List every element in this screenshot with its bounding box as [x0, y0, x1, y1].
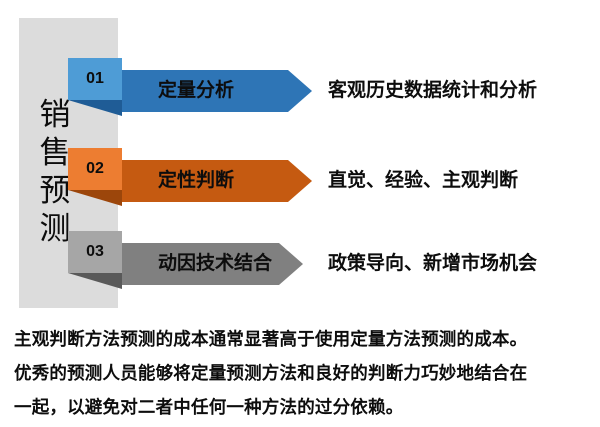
- process-description-1: 客观历史数据统计和分析: [328, 70, 537, 112]
- number-badge-2[interactable]: 02: [68, 148, 122, 190]
- summary-paragraph: 主观判断方法预测的成本通常显著高于使用定量方法预测的成本。 优秀的预测人员能够将…: [14, 322, 589, 424]
- number-badge-3[interactable]: 03: [68, 231, 122, 273]
- process-chevron-2[interactable]: 定性判断: [112, 160, 312, 202]
- process-title-2: 定性判断: [158, 160, 234, 202]
- number-box-shadow-2: [68, 190, 122, 206]
- summary-line-2: 优秀的预测人员能够将定量预测方法和良好的判断力巧妙地结合在: [14, 356, 589, 390]
- process-description-2: 直觉、经验、主观判断: [328, 160, 518, 202]
- process-title-3: 动因技术结合: [158, 243, 272, 285]
- process-chevron-3[interactable]: 动因技术结合: [112, 243, 303, 285]
- process-row-3[interactable]: 动因技术结合 03 政策导向、新增市场机会: [0, 231, 600, 307]
- number-box-shadow-3: [68, 273, 122, 289]
- number-label-3: 03: [68, 231, 122, 273]
- number-label-1: 01: [68, 58, 122, 100]
- slide-canvas: 销 售 预 测 定量分析 01 客观历史数据统计和分析 定性判断 02 直觉、经…: [0, 0, 600, 427]
- summary-line-3: 一起，以避免对二者中任何一种方法的过分依赖。: [14, 390, 589, 424]
- process-title-1: 定量分析: [158, 70, 234, 112]
- number-badge-1[interactable]: 01: [68, 58, 122, 100]
- number-label-2: 02: [68, 148, 122, 190]
- number-box-shadow-1: [68, 100, 122, 116]
- process-chevron-1[interactable]: 定量分析: [112, 70, 312, 112]
- process-row-1[interactable]: 定量分析 01 客观历史数据统计和分析: [0, 58, 600, 134]
- process-description-3: 政策导向、新增市场机会: [328, 243, 537, 285]
- process-row-2[interactable]: 定性判断 02 直觉、经验、主观判断: [0, 148, 600, 224]
- summary-line-1: 主观判断方法预测的成本通常显著高于使用定量方法预测的成本。: [14, 322, 589, 356]
